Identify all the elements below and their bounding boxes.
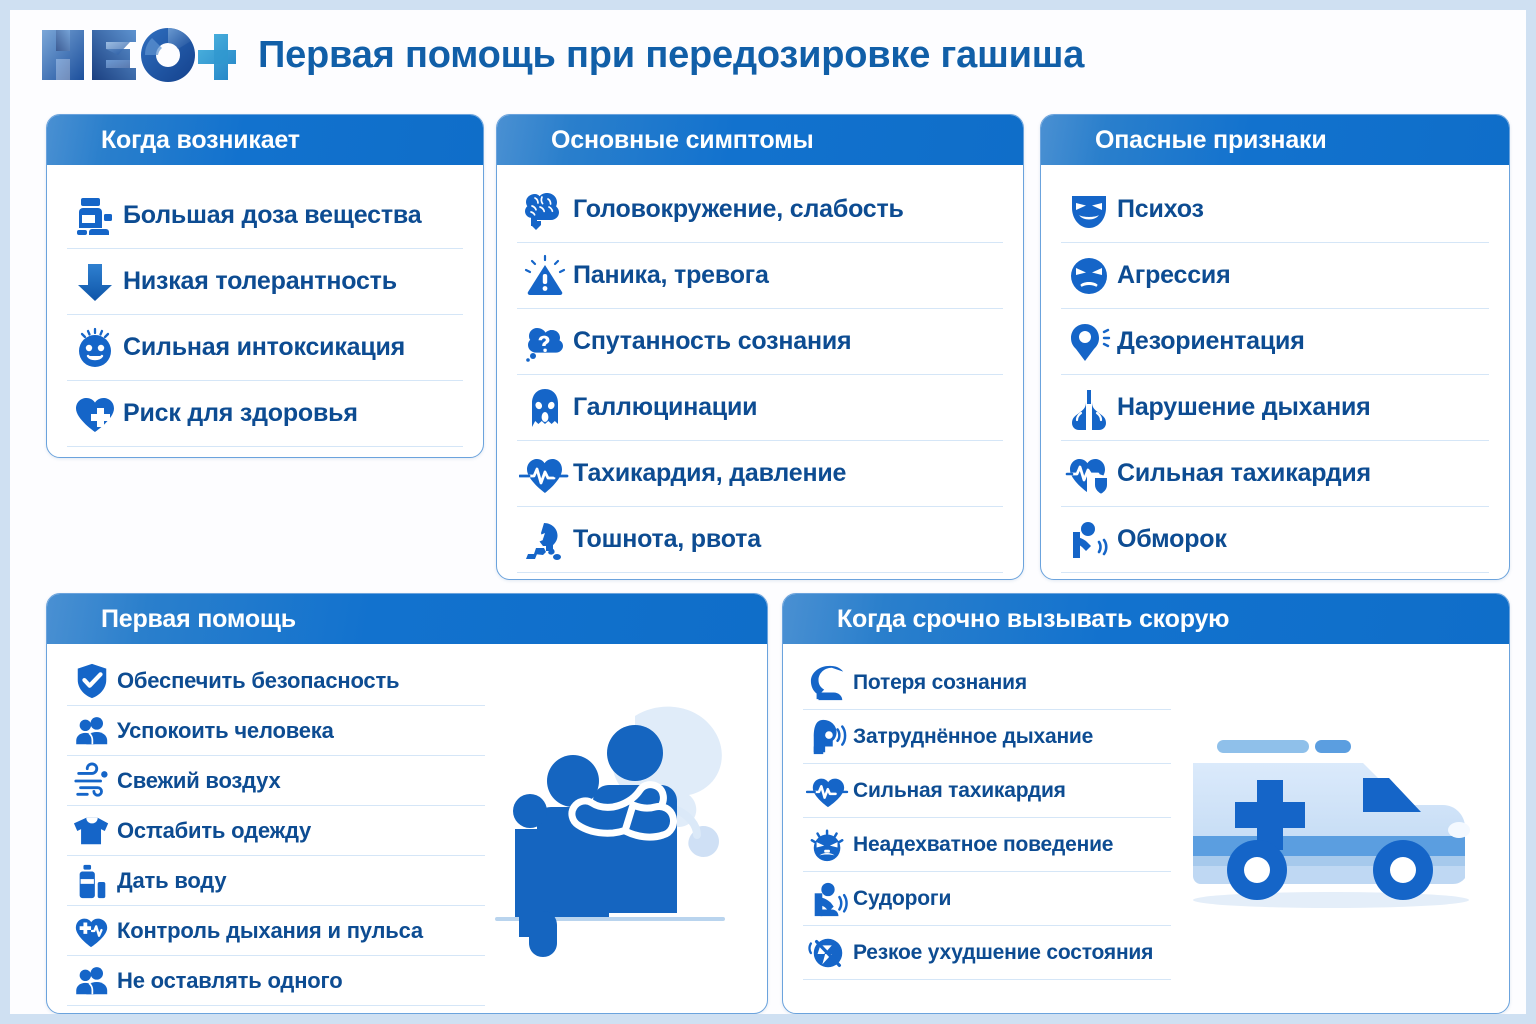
neo-plus-logo	[40, 24, 236, 86]
list-item[interactable]: Спутанность сознания	[517, 309, 1003, 375]
list-item-label: Свежий воздух	[117, 768, 285, 794]
list-item[interactable]: Психоз	[1061, 177, 1489, 243]
list-item-label: Потеря сознания	[853, 671, 1031, 695]
evil-mask-icon	[1061, 188, 1117, 232]
list-item[interactable]: Потеря сознания	[803, 656, 1171, 710]
list-item-label: Судороги	[853, 887, 955, 911]
card-body: Большая доза вещества Низкая толерантнос…	[47, 165, 483, 458]
down-arrow-icon	[67, 260, 123, 304]
thought-bubble-question-icon	[517, 320, 573, 364]
list-item[interactable]: Осπабить одежду	[67, 806, 485, 856]
heart-pulse-icon	[517, 452, 573, 496]
fainting-person-icon	[1061, 518, 1117, 562]
item-list: Головокружение, слабость Паника	[517, 177, 1003, 573]
heart-monitor-icon	[67, 912, 117, 950]
list-item[interactable]: Контроль дыхания и пульса	[67, 906, 485, 956]
tshirt-icon	[67, 812, 117, 850]
breathing-head-icon	[803, 718, 853, 756]
warning-triangle-icon	[517, 254, 573, 298]
list-item[interactable]: Паника, тревога	[517, 243, 1003, 309]
list-item-label: Неадехватное поведение	[853, 833, 1117, 857]
list-item-label: Агрессия	[1117, 261, 1234, 290]
list-item[interactable]: Агрессия	[1061, 243, 1489, 309]
heart-pulse-shield-icon	[1061, 452, 1117, 496]
list-item[interactable]: Галлюцинации	[517, 375, 1003, 441]
list-item-label: Галлюцинации	[573, 393, 761, 422]
brain-head-icon	[517, 188, 573, 232]
two-people-icon	[67, 962, 117, 1000]
wind-icon	[67, 762, 117, 800]
card-body: Потеря сознания	[783, 644, 1509, 992]
card-when-occurs: Когда возникает Большая д	[46, 114, 484, 458]
two-people-support-illustration	[485, 656, 768, 1006]
list-item-label: Дезориентация	[1117, 327, 1309, 356]
list-item[interactable]: Успокоить человека	[67, 706, 485, 756]
dizzy-face-icon	[67, 326, 123, 370]
card-title: Основные симптомы	[551, 126, 814, 155]
list-item-label: Большая доза вещества	[123, 201, 425, 230]
list-item-label: Нарушение дыхания	[1117, 393, 1375, 422]
card-title: Первая помощь	[101, 605, 296, 634]
list-item[interactable]: Затруднённое дыхание	[803, 710, 1171, 764]
list-item[interactable]: Риск для здоровья	[67, 381, 463, 447]
seizure-person-icon	[803, 880, 853, 918]
list-item-label: Сильная тахикардия	[853, 779, 1070, 803]
list-item[interactable]: Неадехватное поведение	[803, 818, 1171, 872]
list-item-label: Не оставлять одного	[117, 968, 346, 994]
list-item[interactable]: Сильная тахикардия	[1061, 441, 1489, 507]
card-body: Головокружение, слабость Паника	[497, 165, 1023, 580]
unconscious-head-icon	[803, 664, 853, 702]
ghost-icon	[517, 386, 573, 430]
list-item[interactable]: Большая доза вещества	[67, 183, 463, 249]
angry-face-icon	[1061, 254, 1117, 298]
list-item[interactable]: Резкое ухудшение состояния	[803, 926, 1171, 980]
list-item-label: Тахикардия, давление	[573, 459, 850, 488]
list-item[interactable]: Дезориентация	[1061, 309, 1489, 375]
list-item-label: Психоз	[1117, 195, 1208, 224]
list-item-label: Спутанность сознания	[573, 327, 855, 356]
card-body: Обеспечить безопасность	[47, 644, 767, 1014]
infographic-poster: Первая помощь при передозировке гашиша К…	[10, 10, 1526, 1014]
item-list: Потеря сознания	[803, 656, 1171, 980]
list-item[interactable]: Сильная тахикардия	[803, 764, 1171, 818]
agitated-face-icon	[803, 826, 853, 864]
location-pin-head-icon	[1061, 320, 1117, 364]
list-item[interactable]: Тошнота, рвота	[517, 507, 1003, 573]
list-item[interactable]: Не оставлять одного	[67, 956, 485, 1006]
list-item-label: Затруднённое дыхание	[853, 725, 1097, 749]
list-item-label: Осπабить одежду	[117, 818, 315, 844]
card-call-ambulance: Когда срочно вызывать скорую Потеря созн…	[782, 593, 1510, 1014]
list-item[interactable]: Низкая толерантность	[67, 249, 463, 315]
list-item-label: Обморок	[1117, 525, 1231, 554]
card-header: Когда возникает	[47, 115, 483, 165]
list-item[interactable]: Сильная интоксикация	[67, 315, 463, 381]
list-item-label: Паника, тревога	[573, 261, 773, 290]
card-header: Когда срочно вызывать скорую	[783, 594, 1509, 644]
list-item-label: Низкая толерантность	[123, 267, 401, 296]
card-title: Опасные признаки	[1095, 126, 1327, 155]
list-item[interactable]: Нарушение дыхания	[1061, 375, 1489, 441]
card-header: Опасные признаки	[1041, 115, 1509, 165]
card-first-aid: Первая помощь Обеспечить безопасность	[46, 593, 768, 1014]
heart-cross-icon	[67, 392, 123, 436]
ambulance-illustration	[1171, 656, 1491, 980]
list-item-label: Сильная интоксикация	[123, 333, 409, 362]
two-people-icon	[67, 712, 117, 750]
sharp-decline-icon	[803, 934, 853, 972]
shield-check-icon	[67, 662, 117, 700]
list-item-label: Успокоить человека	[117, 718, 338, 744]
list-item[interactable]: Обморок	[1061, 507, 1489, 573]
list-item-label: Тошнота, рвота	[573, 525, 765, 554]
water-bottle-icon	[67, 862, 117, 900]
card-title: Когда срочно вызывать скорую	[837, 605, 1229, 634]
list-item-label: Резкое ухудшение состояния	[853, 941, 1157, 965]
list-item-label: Дать воду	[117, 868, 230, 894]
card-header: Основные симптомы	[497, 115, 1023, 165]
heart-pulse-icon	[803, 772, 853, 810]
list-item-label: Риск для здоровья	[123, 399, 362, 428]
card-header: Первая помощь	[47, 594, 767, 644]
list-item-label: Контроль дыхания и пульса	[117, 918, 427, 944]
page-title: Первая помощь при передозировке гашиша	[258, 34, 1084, 77]
list-item[interactable]: Обеспечить безопасность	[67, 656, 485, 706]
card-danger-signs: Опасные признаки Психоз	[1040, 114, 1510, 580]
card-main-symptoms: Основные симптомы Головокружение, слаб	[496, 114, 1024, 580]
card-body: Психоз Агрессия	[1041, 165, 1509, 580]
item-list: Большая доза вещества Низкая толерантнос…	[67, 183, 463, 447]
vomiting-head-icon	[517, 518, 573, 562]
list-item[interactable]: Свежий воздух	[67, 756, 485, 806]
list-item-label: Обеспечить безопасность	[117, 668, 403, 694]
list-item-label: Сильная тахикардия	[1117, 459, 1375, 488]
poster-header: Первая помощь при передозировке гашиша	[10, 10, 1526, 100]
list-item[interactable]: Судороги	[803, 872, 1171, 926]
pill-bottle-icon	[67, 194, 123, 238]
card-title: Когда возникает	[101, 126, 300, 155]
list-item[interactable]: Дать воду	[67, 856, 485, 906]
lungs-icon	[1061, 386, 1117, 430]
item-list: Психоз Агрессия	[1061, 177, 1489, 573]
item-list: Обеспечить безопасность	[67, 656, 485, 1006]
list-item[interactable]: Головокружение, слабость	[517, 177, 1003, 243]
list-item-label: Головокружение, слабость	[573, 195, 908, 224]
list-item[interactable]: Тахикардия, давление	[517, 441, 1003, 507]
